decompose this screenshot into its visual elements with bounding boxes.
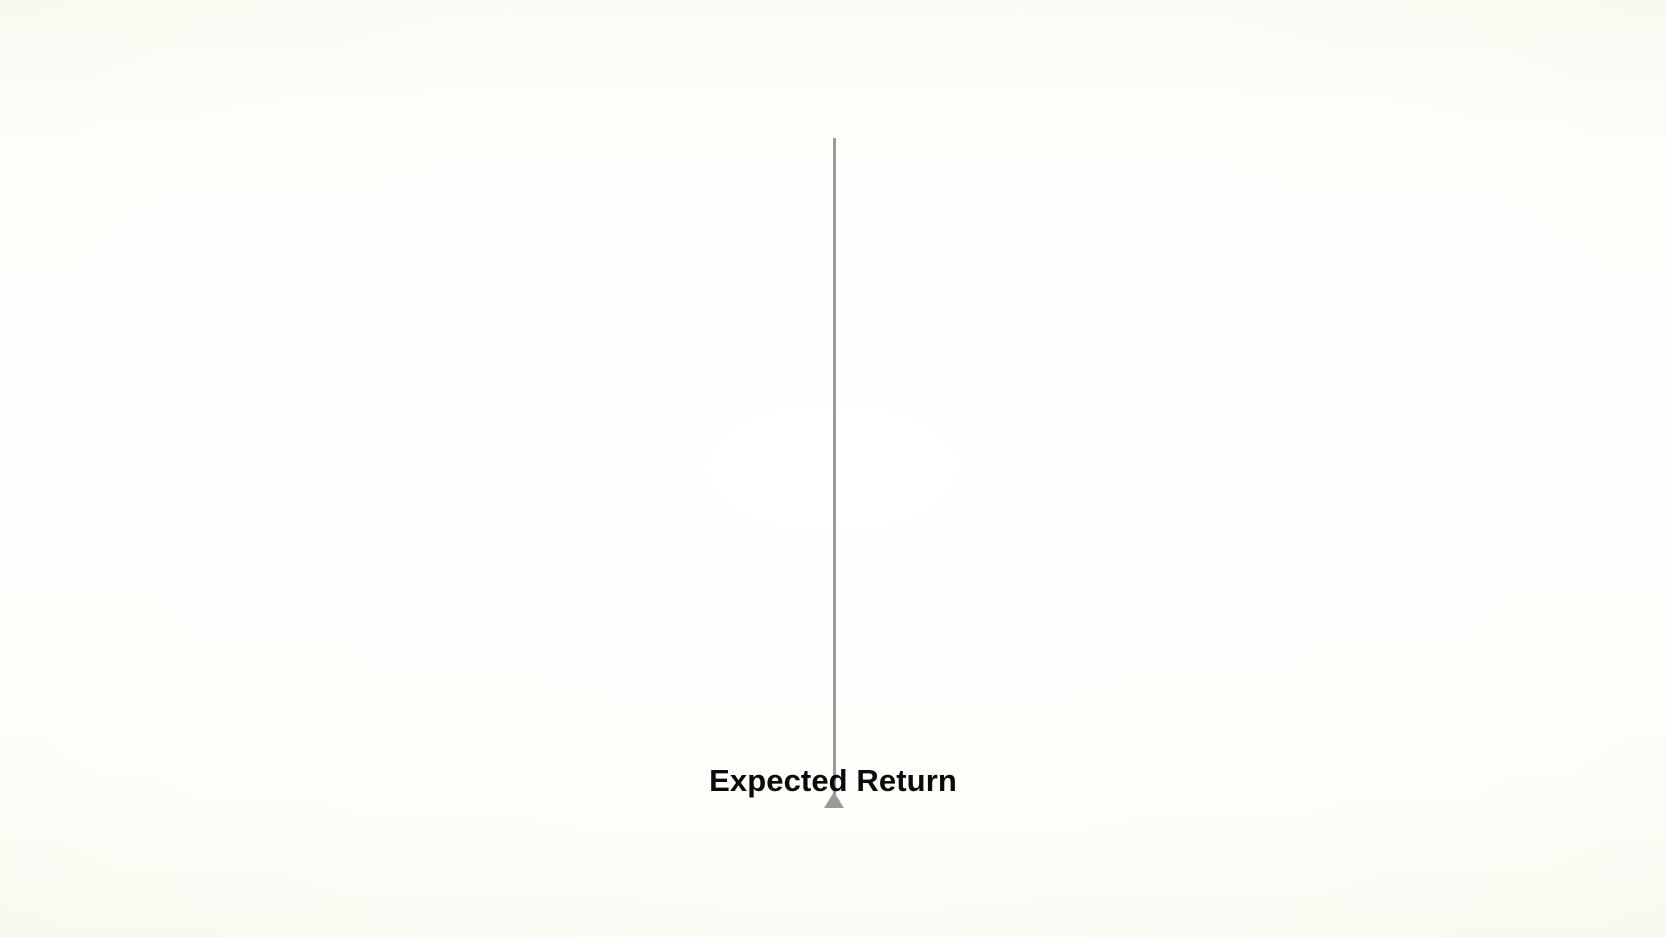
- vertical-axis: [833, 138, 836, 800]
- quadrant-chart-canvas: Expected Return Risk Low High $ High Div…: [0, 0, 1666, 937]
- y-axis-label: Expected Return: [0, 763, 1666, 799]
